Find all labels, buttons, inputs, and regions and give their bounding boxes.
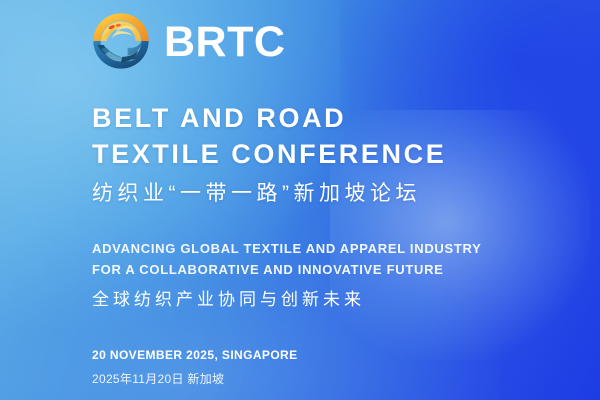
main-title: BELT AND ROAD TEXTILE CONFERENCE [92, 100, 446, 172]
event-date-english: 20 NOVEMBER 2025, SINGAPORE [92, 346, 298, 365]
conference-poster: BRTC BELT AND ROAD TEXTILE CONFERENCE 纺织… [0, 0, 600, 400]
subtitle-line-1: ADVANCING GLOBAL TEXTILE AND APPAREL IND… [92, 238, 482, 259]
event-details: 20 NOVEMBER 2025, SINGAPORE 2025年11月20日 … [92, 346, 298, 389]
event-date-chinese: 2025年11月20日 新加坡 [92, 369, 298, 389]
brtc-logo-icon [88, 8, 154, 74]
brand-lockup: BRTC [88, 8, 285, 74]
chinese-title: 纺织业“一带一路”新加坡论坛 [92, 180, 421, 208]
main-title-line-2: TEXTILE CONFERENCE [92, 136, 446, 172]
subtitle: ADVANCING GLOBAL TEXTILE AND APPAREL IND… [92, 238, 482, 280]
chinese-tagline: 全球纺织产业协同与创新未来 [92, 288, 365, 312]
main-title-line-1: BELT AND ROAD [92, 100, 446, 136]
poster-content: BRTC BELT AND ROAD TEXTILE CONFERENCE 纺织… [0, 0, 600, 400]
brand-wordmark: BRTC [164, 21, 285, 64]
subtitle-line-2: FOR A COLLABORATIVE AND INNOVATIVE FUTUR… [92, 259, 482, 280]
